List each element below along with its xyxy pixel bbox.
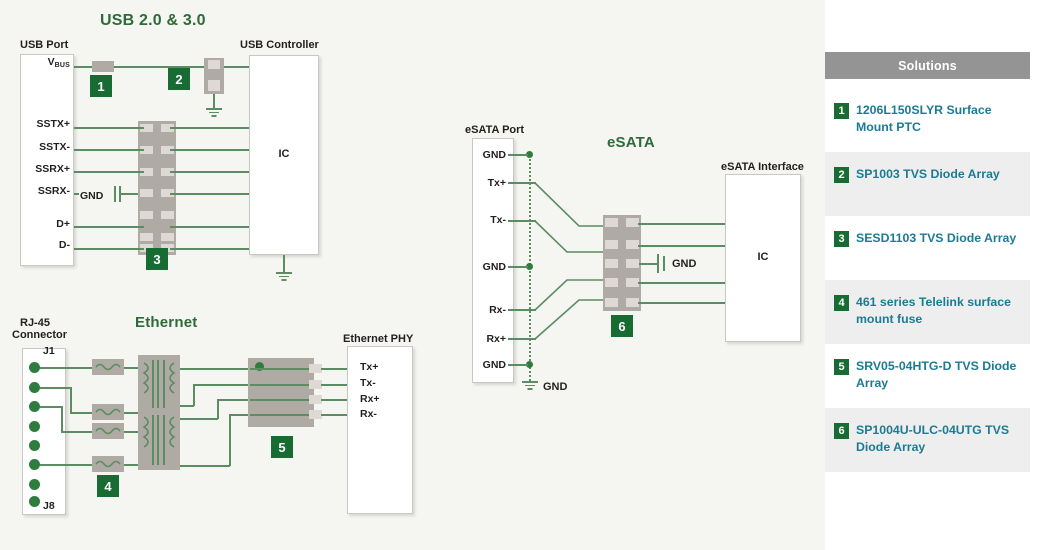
usb-trace-sstx-minus-in [74, 149, 144, 151]
usb-trace-sstx-plus-out [170, 127, 250, 129]
usb-trace-sstx-plus-in [74, 127, 144, 129]
rj45-pin [29, 496, 40, 507]
esata-interface-box: IC [725, 174, 801, 342]
eth-xfmr-out-1 [180, 368, 248, 370]
esata-pin-rx-plus: Rx+ [460, 334, 506, 345]
rj45-pin [29, 459, 40, 470]
usb-trace-ssrx-plus-out [170, 171, 250, 173]
usb-port-label: USB Port [20, 39, 68, 51]
solution-item[interactable]: 2SP1003 TVS Diode Array [825, 152, 1030, 216]
esata-trace-rx-minus-a [508, 309, 536, 311]
usb-trace-ssrx-plus-in [74, 171, 144, 173]
esata-tvs-pad [605, 278, 618, 287]
esd-array-internal-trace [250, 414, 312, 416]
usb-trace-ssrx-minus-out [170, 193, 250, 195]
esata-pin-rx-minus: Rx- [460, 305, 506, 316]
usb-tvs-pad [161, 211, 174, 219]
badge-4[interactable]: 4 [97, 475, 119, 497]
esata-tvs-pad [605, 259, 618, 268]
solution-number-badge: 2 [834, 167, 849, 183]
esata-gnd-stub-3 [508, 364, 528, 366]
eth-xfmr-out-2a [180, 405, 194, 407]
rj45-label-line1: RJ-45 [20, 317, 50, 329]
telelink-fuse [92, 359, 124, 375]
usb-pin-d-plus: D+ [6, 219, 70, 230]
usb-gnd-label: GND [80, 191, 114, 202]
badge-5[interactable]: 5 [271, 436, 293, 458]
esata-tvs-pad [605, 298, 618, 307]
eth-xfmr-out-3c [217, 399, 248, 401]
eth-xfmr-out-3b [217, 399, 219, 419]
rj45-pin-j8-label: J8 [43, 501, 55, 512]
solution-number-badge: 5 [834, 359, 849, 375]
eth-xfmr-out-3a [180, 418, 218, 420]
esata-ground-icon [522, 381, 538, 390]
usb-tvs-pad [161, 233, 174, 241]
eth-xfmr-out-4a [180, 465, 230, 467]
usb-pin-ssrx-minus: SSRX- [6, 186, 70, 197]
eth-phy-trace-tx-minus [321, 384, 347, 386]
esata-pin-gnd-3: GND [460, 360, 506, 371]
esata-pin-gnd-1: GND [460, 150, 506, 161]
rj45-pin [29, 401, 40, 412]
rj45-pin [29, 362, 40, 373]
esata-tvs-pad [626, 259, 639, 268]
solution-link-text[interactable]: SESD1103 TVS Diode Array [856, 230, 1016, 247]
solution-link-text[interactable]: SP1003 TVS Diode Array [856, 166, 1000, 183]
usb-trace-ssrx-minus-in [74, 193, 79, 195]
usb-trace-d-minus-out [170, 248, 250, 250]
esata-trace-tx-minus-diag [535, 220, 603, 276]
usb-controller-gnd-wire [283, 255, 285, 272]
eth-xfmr-out-4c [229, 414, 248, 416]
rj45-pin [29, 421, 40, 432]
usb-pin-d-minus: D- [6, 240, 70, 251]
phy-pin-tx-minus: Tx- [360, 378, 376, 389]
eth-fuse-out-4 [124, 464, 138, 466]
phy-pin-tx-plus: Tx+ [360, 362, 378, 373]
solution-link-text[interactable]: SRV05-04HTG-D TVS Diode Array [856, 358, 1020, 391]
usb-vbus-trace-b [114, 66, 204, 68]
tvs-vbus-pad-top [208, 60, 220, 69]
usb-trace-sstx-minus-out [170, 149, 250, 151]
usb-ic-text: IC [250, 148, 318, 160]
usb-tvs-pad [140, 211, 153, 219]
solution-number-badge: 3 [834, 231, 849, 247]
eth-xfmr-out-2c [193, 384, 248, 386]
esata-tvs-pad [605, 240, 618, 249]
solution-item[interactable]: 3SESD1103 TVS Diode Array [825, 216, 1030, 280]
eth-xfmr-out-2b [193, 384, 195, 406]
eth-trace-p2a [40, 387, 71, 389]
eth-fuse-out-1 [124, 367, 138, 369]
eth-phy-trace-rx-minus [321, 414, 347, 416]
solution-number-badge: 1 [834, 103, 849, 119]
transformer-windings [138, 355, 180, 470]
rj45-label-line2: Connector [12, 329, 67, 341]
usb-tvs-pad [140, 189, 153, 197]
phy-pin-rx-minus: Rx- [360, 409, 377, 420]
solutions-header: Solutions [825, 52, 1030, 79]
usb-controller-label: USB Controller [240, 39, 319, 51]
eth-trace-p2b [70, 387, 72, 413]
badge-3[interactable]: 3 [146, 248, 168, 270]
solution-item[interactable]: 5SRV05-04HTG-D TVS Diode Array [825, 344, 1030, 408]
esata-pin-tx-minus: Tx- [460, 215, 506, 226]
esata-out-trace-1 [638, 223, 726, 225]
ptc-fuse-package [92, 61, 114, 72]
usb-pin-ssrx-plus: SSRX+ [6, 164, 70, 175]
esata-pin-tx-plus: Tx+ [460, 178, 506, 189]
solution-item[interactable]: 6SP1004U-ULC-04UTG TVS Diode Array [825, 408, 1030, 472]
esd-array-internal-trace [250, 368, 312, 370]
solution-item[interactable]: 4461 series Telelink surface mount fuse [825, 280, 1030, 344]
esata-interface-label: eSATA Interface [721, 161, 804, 173]
esata-out-trace-4 [638, 302, 726, 304]
badge-6[interactable]: 6 [611, 315, 633, 337]
esata-gnd-stub-1 [508, 154, 528, 156]
telelink-fuse [92, 456, 124, 472]
telelink-fuse [92, 423, 124, 439]
esata-trace-rx-plus-a [508, 338, 536, 340]
usb-vbus-trace-c [224, 66, 250, 68]
usb-trace-d-plus-in [74, 226, 144, 228]
diagram-canvas: USB 2.0 & 3.0 USB Port USB Controller VB… [0, 0, 825, 550]
solution-link-text[interactable]: 1206L150SLYR Surface Mount PTC [856, 102, 1020, 135]
usb-vbus-trace-a [74, 66, 92, 68]
usb-pin-sstx-minus: SSTX- [6, 142, 70, 153]
ethernet-section-title: Ethernet [135, 314, 197, 331]
eth-phy-trace-rx-plus [321, 399, 347, 401]
esata-port-label: eSATA Port [465, 124, 524, 136]
eth-trace-p3b [61, 406, 63, 432]
eth-trace-p6 [40, 464, 92, 466]
badge-1[interactable]: 1 [90, 75, 112, 97]
ethernet-phy-box [347, 346, 413, 514]
solution-link-text[interactable]: SP1004U-ULC-04UTG TVS Diode Array [856, 422, 1020, 455]
tvs-vbus-pad-bottom [208, 80, 220, 91]
esata-trace-tx-minus-a [508, 220, 536, 222]
rj45-connector-box [22, 348, 66, 515]
tvs-vbus-ground-icon [206, 108, 222, 117]
usb-section-title: USB 2.0 & 3.0 [100, 12, 206, 30]
solutions-list: 11206L150SLYR Surface Mount PTC2SP1003 T… [825, 88, 1030, 472]
ethernet-section: Ethernet RJ-45 Connector Ethernet PHY J1… [0, 300, 450, 550]
eth-fuse-out-2 [124, 412, 138, 414]
rj45-pin [29, 382, 40, 393]
usb-port-box [20, 54, 74, 266]
page-root: USB 2.0 & 3.0 USB Port USB Controller VB… [0, 0, 1044, 550]
esd-array-internal-trace [250, 384, 312, 386]
esata-ic-text: IC [726, 251, 800, 263]
phy-pin-rx-plus: Rx+ [360, 394, 380, 405]
esata-out-trace-3 [638, 282, 726, 284]
esata-trace-rx-plus-diag [535, 298, 603, 342]
solution-number-badge: 6 [834, 423, 849, 439]
eth-trace-p1 [40, 367, 92, 369]
solution-link-text[interactable]: 461 series Telelink surface mount fuse [856, 294, 1020, 327]
esata-gnd-stub-2 [508, 266, 528, 268]
esata-gnd-capacitor-icon [657, 254, 671, 274]
eth-phy-trace-tx-plus [321, 368, 347, 370]
esd-array-internal-trace [250, 399, 312, 401]
esata-trace-tx-plus-a [508, 182, 536, 184]
usb-trace-d-plus-out [170, 226, 250, 228]
esata-gnd-cap-trace [639, 263, 659, 265]
eth-trace-p2c [70, 412, 92, 414]
tvs-vbus-gnd-wire [213, 94, 215, 108]
badge-2[interactable]: 2 [168, 68, 190, 90]
usb-controller-box: IC [249, 55, 319, 255]
eth-fuse-out-3 [124, 431, 138, 433]
esata-out-trace-2 [638, 245, 726, 247]
esata-gnd-cap-label: GND [672, 258, 696, 270]
telelink-fuse [92, 404, 124, 420]
usb-controller-ground-icon [276, 272, 292, 281]
solution-item[interactable]: 11206L150SLYR Surface Mount PTC [825, 88, 1030, 152]
esd-array-pin1-marker-icon [255, 362, 264, 371]
rj45-pin-j1-label: J1 [43, 346, 55, 357]
solution-number-badge: 4 [834, 295, 849, 311]
esata-tvs-pad [605, 218, 618, 227]
usb-section: USB 2.0 & 3.0 USB Port USB Controller VB… [0, 0, 360, 290]
esata-section: eSATA eSATA Port eSATA Interface GND Tx+… [440, 110, 825, 410]
usb-pin-sstx-plus: SSTX+ [6, 119, 70, 130]
esata-pin-gnd-2: GND [460, 262, 506, 273]
rj45-pin [29, 479, 40, 490]
usb-trace-d-minus-in [74, 248, 144, 250]
usb-pin-vbus: VBUS [14, 57, 70, 69]
esata-gnd-bus-label: GND [543, 381, 567, 393]
solutions-panel: Solutions 11206L150SLYR Surface Mount PT… [825, 0, 1044, 550]
usb-tvs-pad [140, 233, 153, 241]
esata-section-title: eSATA [607, 134, 655, 151]
rj45-pin [29, 440, 40, 451]
eth-trace-p3c [61, 431, 92, 433]
eth-xfmr-out-4b [229, 414, 231, 466]
ethernet-phy-label: Ethernet PHY [343, 333, 413, 345]
eth-trace-p3a [40, 406, 62, 408]
